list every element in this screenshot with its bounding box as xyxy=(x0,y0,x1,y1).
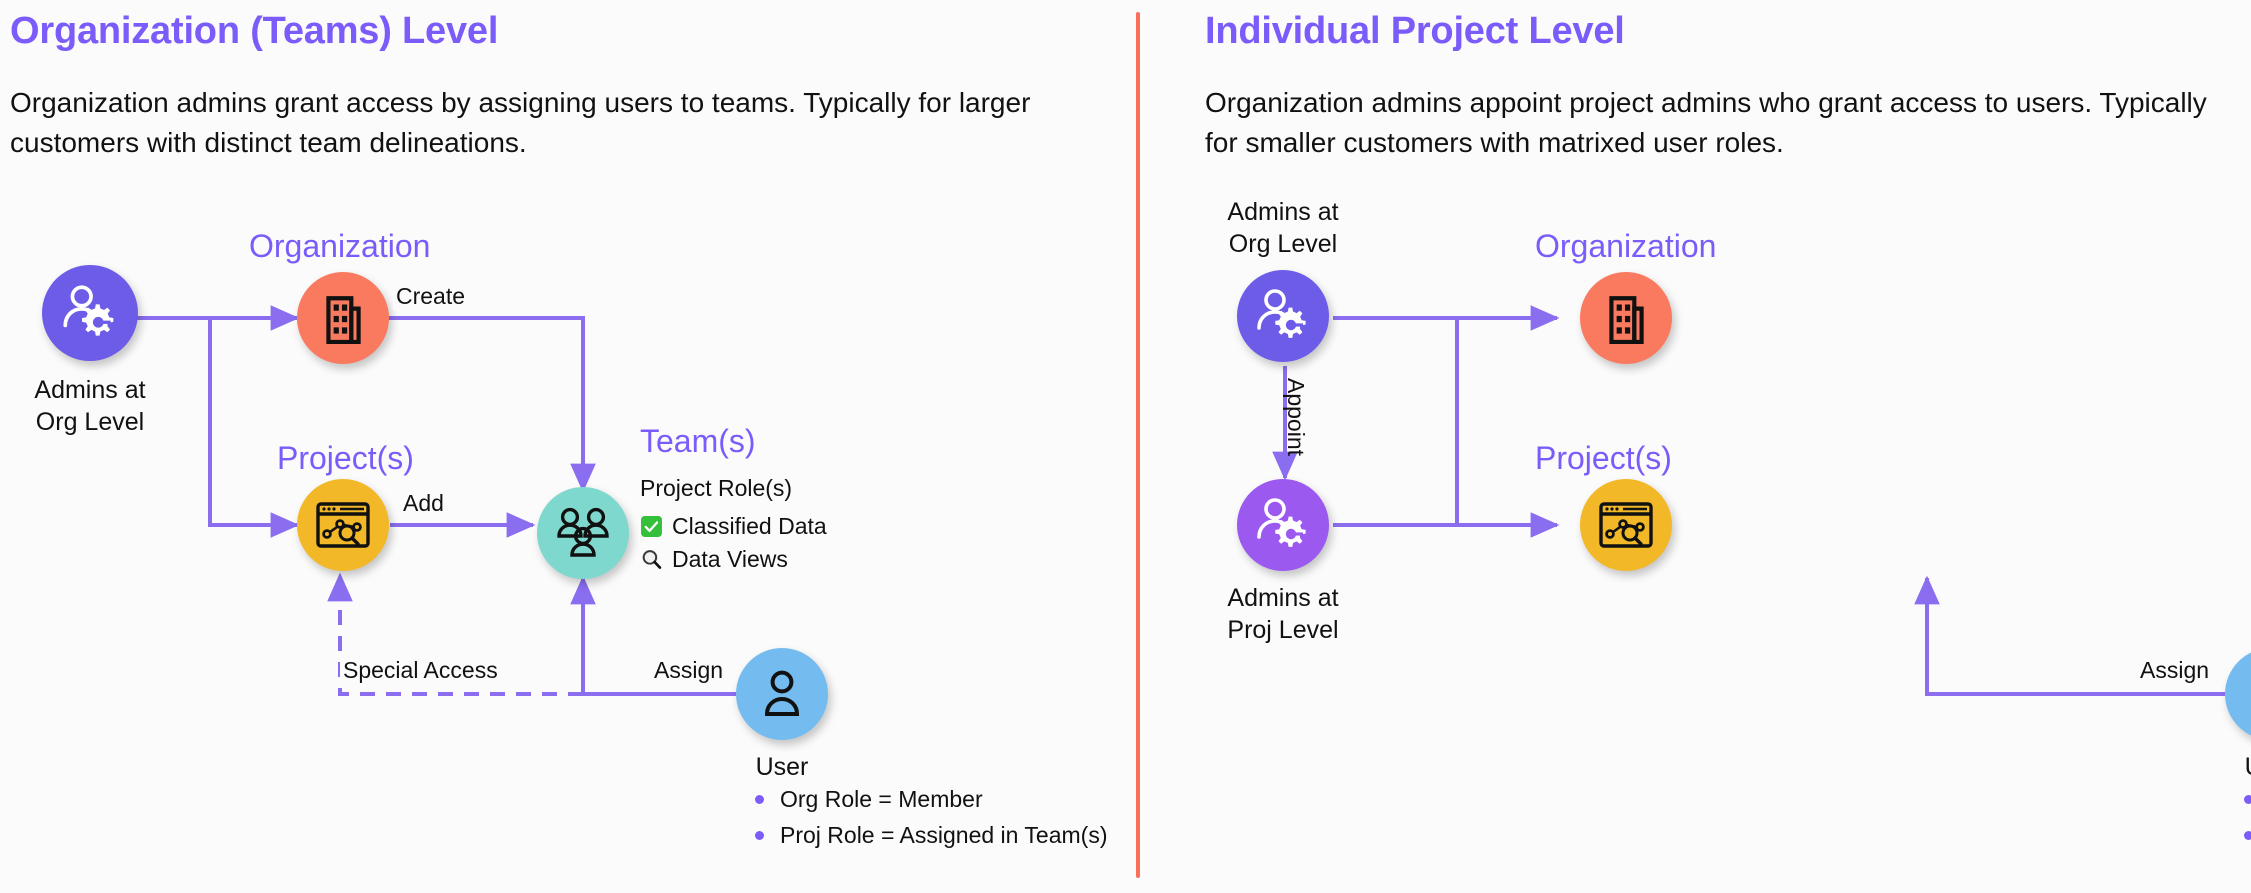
left-user-bullet-0: Org Role = Member xyxy=(755,786,1107,813)
left-admin-org-node[interactable] xyxy=(42,265,138,361)
right-admin-proj-node[interactable] xyxy=(1237,479,1329,571)
right-edge-label-assign: Assign xyxy=(2137,657,2212,684)
project-dashboard-icon xyxy=(315,500,371,550)
bullet-dot-icon xyxy=(755,795,764,804)
individual-project-level-panel: Individual Project Level Organization ad… xyxy=(1137,0,2251,893)
left-project-roles-title: Project Role(s) xyxy=(640,475,792,502)
building-icon xyxy=(319,292,367,344)
left-organization-node[interactable] xyxy=(297,272,389,364)
left-role-label-1: Data Views xyxy=(672,546,788,573)
left-user-bullet-label-1: Proj Role = Assigned in Team(s) xyxy=(780,822,1107,849)
user-person-icon xyxy=(759,668,805,720)
right-admin-proj-caption: Admins at Proj Level xyxy=(1183,583,1383,646)
right-organization-title: Organization xyxy=(1535,228,1716,265)
right-user-bullet-1: Proj Role = Assigned in Project(s) xyxy=(2244,822,2251,849)
right-admin-org-caption: Admins at Org Level xyxy=(1183,197,1383,260)
bullet-dot-icon xyxy=(2244,831,2251,840)
left-project-title: Project(s) xyxy=(277,440,414,477)
left-role-label-0: Classified Data xyxy=(672,513,827,540)
right-project-title: Project(s) xyxy=(1535,440,1672,477)
right-user-caption: User xyxy=(2211,752,2251,784)
admin-key-gear-icon xyxy=(57,280,123,346)
right-project-node[interactable] xyxy=(1580,479,1672,571)
right-user-bullet-0: Org Role = Member xyxy=(2244,786,2251,813)
check-green-icon xyxy=(640,515,663,538)
left-role-item-1: Data Views xyxy=(640,546,788,573)
left-role-item-0: Classified Data xyxy=(640,513,827,540)
left-organization-title: Organization xyxy=(249,228,430,265)
left-admin-org-caption: Admins at Org Level xyxy=(10,375,170,438)
organization-teams-level-panel: Organization (Teams) Level Organization … xyxy=(0,0,1137,893)
left-user-caption: User xyxy=(722,752,842,784)
team-people-icon xyxy=(554,506,612,560)
project-dashboard-icon xyxy=(1598,500,1654,550)
left-edges xyxy=(0,0,1137,893)
left-project-node[interactable] xyxy=(297,479,389,571)
magnifier-icon xyxy=(640,548,663,571)
left-edge-label-special-access: Special Access xyxy=(340,657,501,684)
right-user-bullets: Org Role = Member Proj Role = Assigned i… xyxy=(2244,786,2251,858)
left-user-node[interactable] xyxy=(736,648,828,740)
left-user-bullet-label-0: Org Role = Member xyxy=(780,786,983,813)
left-user-bullets: Org Role = Member Proj Role = Assigned i… xyxy=(755,786,1107,858)
building-icon xyxy=(1602,292,1650,344)
left-edge-label-assign: Assign xyxy=(651,657,726,684)
admin-key-gear-icon xyxy=(1251,493,1315,557)
left-team-title: Team(s) xyxy=(640,423,756,460)
left-user-bullet-1: Proj Role = Assigned in Team(s) xyxy=(755,822,1107,849)
left-edge-label-create: Create xyxy=(393,283,468,310)
right-organization-node[interactable] xyxy=(1580,272,1672,364)
bullet-dot-icon xyxy=(755,831,764,840)
right-admin-org-node[interactable] xyxy=(1237,270,1329,362)
left-edge-label-add: Add xyxy=(400,490,447,517)
bullet-dot-icon xyxy=(2244,795,2251,804)
right-edge-label-appoint: Appoint xyxy=(1282,375,1309,459)
left-team-node[interactable] xyxy=(537,487,629,579)
admin-key-gear-icon xyxy=(1251,284,1315,348)
